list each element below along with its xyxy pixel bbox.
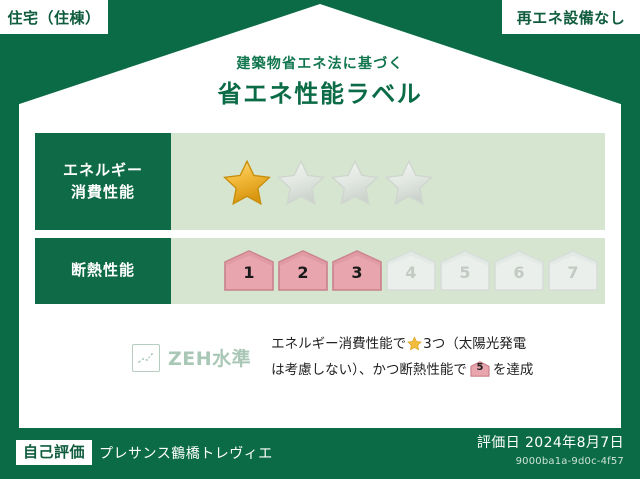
mini-star-icon xyxy=(407,336,422,359)
title-block: 建築物省エネ法に基づく 省エネ性能ラベル xyxy=(0,56,640,109)
zeh-chart-icon xyxy=(132,344,160,372)
zeh-desc-line1-text-b: 3つ（太陽光発電 xyxy=(423,336,526,352)
star-rating xyxy=(223,158,433,206)
zeh-desc-line2-text-a: は考慮しない）、かつ断熱性能で xyxy=(271,362,467,378)
star-empty-icon xyxy=(331,158,379,206)
insulation-level-1: 1 xyxy=(223,249,275,293)
insulation-performance-body: 1234567 xyxy=(171,238,605,304)
insulation-level-value: 5 xyxy=(459,265,470,293)
insulation-level-value: 3 xyxy=(351,265,362,293)
insulation-level-5: 5 xyxy=(439,249,491,293)
renewable-energy-tag-label: 再エネ設備なし xyxy=(517,7,626,28)
footer-left: 自己評価 プレサンス鶴橋トレヴィエ xyxy=(16,440,273,465)
zeh-desc-line2-text-b: を達成 xyxy=(493,362,534,378)
renewable-energy-tag: 再エネ設備なし xyxy=(502,0,640,34)
insulation-level-6: 6 xyxy=(493,249,545,293)
insulation-performance-row: 断熱性能 1234567 xyxy=(35,238,605,304)
insulation-performance-label: 断熱性能 xyxy=(35,238,171,304)
evaluation-date: 評価日 2024年8月7日 xyxy=(477,432,624,452)
energy-label-card: 住宅（住棟） 再エネ設備なし 建築物省エネ法に基づく 省エネ性能ラベル エネルギ… xyxy=(0,0,640,479)
energy-performance-label-line1: エネルギー xyxy=(63,160,143,182)
evaluation-id: 9000ba1a-9d0c-4f57 xyxy=(477,456,624,467)
building-type-tag-label: 住宅（住棟） xyxy=(7,7,100,28)
star-filled-icon xyxy=(223,158,271,206)
mini-house-badge-icon: 5 xyxy=(470,361,490,377)
insulation-level-value: 4 xyxy=(405,265,416,293)
zeh-standard-label: ZEH水準 xyxy=(168,344,251,371)
zeh-description-line2: は考慮しない）、かつ断熱性能で5を達成 xyxy=(271,359,533,382)
insulation-level-value: 7 xyxy=(567,265,578,293)
page-title: 省エネ性能ラベル xyxy=(0,80,640,109)
energy-performance-label: エネルギー 消費性能 xyxy=(35,133,171,230)
insulation-level-value: 1 xyxy=(243,265,254,293)
energy-performance-label-line2: 消費性能 xyxy=(71,182,135,204)
insulation-level-7: 7 xyxy=(547,249,599,293)
title-subtitle: 建築物省エネ法に基づく xyxy=(0,56,640,73)
energy-performance-row: エネルギー 消費性能 xyxy=(35,133,605,230)
self-evaluation-badge: 自己評価 xyxy=(16,440,92,465)
metrics-container: エネルギー 消費性能 断熱性能 1234567 xyxy=(35,133,605,312)
insulation-level-4: 4 xyxy=(385,249,437,293)
mini-house-badge-value: 5 xyxy=(470,359,490,376)
insulation-level-value: 6 xyxy=(513,265,524,293)
insulation-level-2: 2 xyxy=(277,249,329,293)
zeh-desc-line1-text-a: エネルギー消費性能で xyxy=(271,336,406,352)
zeh-standard-block: ZEH水準 エネルギー消費性能で3つ（太陽光発電 は考慮しない）、かつ断熱性能で… xyxy=(132,333,533,382)
energy-performance-body xyxy=(171,133,605,230)
insulation-level-3: 3 xyxy=(331,249,383,293)
building-type-tag: 住宅（住棟） xyxy=(0,0,108,34)
star-empty-icon xyxy=(385,158,433,206)
footer-right: 評価日 2024年8月7日 9000ba1a-9d0c-4f57 xyxy=(477,432,624,467)
insulation-performance-label-line1: 断熱性能 xyxy=(71,260,135,282)
zeh-description-line1: エネルギー消費性能で3つ（太陽光発電 xyxy=(271,333,533,359)
star-empty-icon xyxy=(277,158,325,206)
insulation-scale: 1234567 xyxy=(223,249,599,293)
building-name: プレサンス鶴橋トレヴィエ xyxy=(99,443,273,463)
insulation-level-value: 2 xyxy=(297,265,308,293)
zeh-description: エネルギー消費性能で3つ（太陽光発電 は考慮しない）、かつ断熱性能で5を達成 xyxy=(271,333,533,382)
